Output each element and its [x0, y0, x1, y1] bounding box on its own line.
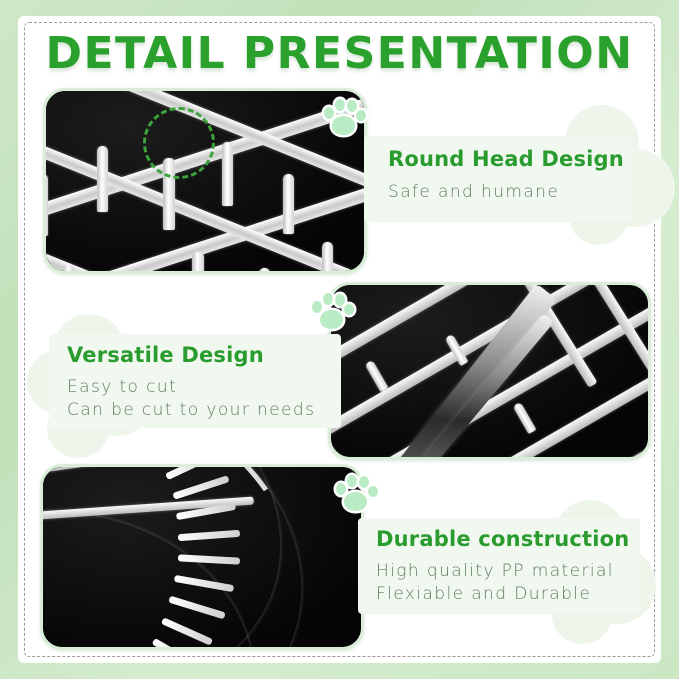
section-versatile-design: Versatile Design Easy to cut Can be cut … — [0, 262, 679, 472]
section-durable-construction: Durable construction High quality PP mat… — [0, 448, 679, 668]
paw-icon — [322, 96, 366, 138]
section-text-versatile: Versatile Design Easy to cut Can be cut … — [45, 322, 345, 442]
section-subtitle-line-1: Safe and humane — [370, 171, 650, 204]
section-subtitle-line-1: Easy to cut — [45, 367, 345, 399]
product-photo-flexible — [40, 464, 364, 650]
section-text-durable: Durable construction High quality PP mat… — [362, 506, 652, 626]
detail-presentation-poster: DETAIL PRESENTATION — [0, 0, 679, 679]
product-photo-cutting — [328, 282, 651, 460]
section-subtitle-line-2: Can be cut to your needs — [45, 399, 345, 422]
section-round-head-design: Round Head Design Safe and humane — [0, 0, 679, 280]
section-heading: Round Head Design — [370, 130, 650, 171]
section-heading: Versatile Design — [45, 322, 345, 367]
section-subtitle-line-1: High quality PP material — [362, 551, 652, 583]
section-subtitle-line-2: Flexiable and Durable — [362, 583, 652, 606]
product-photo-round-head — [43, 88, 367, 274]
highlight-circle — [143, 107, 215, 179]
section-text-round-head: Round Head Design Safe and humane — [370, 130, 650, 240]
section-heading: Durable construction — [362, 506, 652, 551]
